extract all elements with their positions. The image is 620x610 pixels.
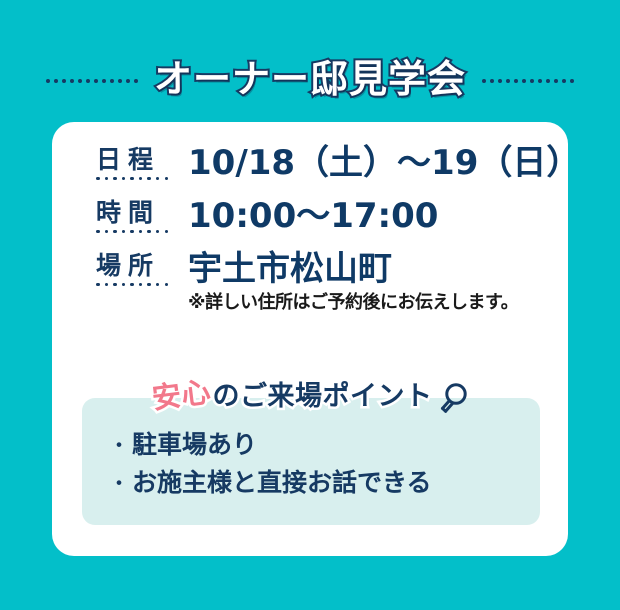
header-band: オーナー邸見学会 <box>0 46 620 112</box>
magnifier-icon <box>436 381 470 420</box>
event-details-list: 日程 10/18（土）〜19（日） 時間 10:00〜17:00 <box>96 144 566 330</box>
visit-points-heading-accent: 安心 <box>151 376 213 415</box>
dotted-rule-left <box>46 78 138 84</box>
detail-label-place-text: 場所 <box>96 252 188 280</box>
list-item-label: お施主様と直接お話できる <box>132 468 432 498</box>
label-underline-dots <box>96 177 168 181</box>
label-underline-dots <box>96 283 168 287</box>
visit-points-heading-rest: のご来場ポイント <box>213 381 433 412</box>
detail-value-date: 10/18（土）〜19（日） <box>188 144 580 183</box>
visit-points-list: ・ 駐車場あり ・ お施主様と直接お話できる <box>106 430 526 506</box>
detail-row-date: 日程 10/18（土）〜19（日） <box>96 144 566 183</box>
list-bullet-icon: ・ <box>106 473 132 495</box>
detail-value-date-text: 10/18（土）〜19（日） <box>188 144 580 183</box>
detail-value-place-text: 宇土市松山町 <box>188 250 566 289</box>
detail-value-place-note: ※詳しい住所はご予約後にお伝えします。 <box>188 291 566 315</box>
visit-points-heading-text: 安心のご来場ポイント <box>152 380 432 412</box>
detail-label-date: 日程 <box>96 144 188 181</box>
detail-label-time-text: 時間 <box>96 199 188 227</box>
label-underline-dots <box>96 230 168 234</box>
detail-label-time: 時間 <box>96 197 188 234</box>
visit-points-box: 安心のご来場ポイント ・ 駐車場あり ・ お施主様と直接お話できる <box>82 398 540 525</box>
list-item: ・ お施主様と直接お話できる <box>106 468 526 498</box>
dotted-rule-right <box>482 78 574 84</box>
list-item-label: 駐車場あり <box>132 430 257 460</box>
detail-label-date-text: 日程 <box>96 146 188 174</box>
detail-value-place: 宇土市松山町 ※詳しい住所はご予約後にお伝えします。 <box>188 250 566 315</box>
detail-row-place: 場所 宇土市松山町 ※詳しい住所はご予約後にお伝えします。 <box>96 250 566 315</box>
detail-row-time: 時間 10:00〜17:00 <box>96 197 566 236</box>
list-item: ・ 駐車場あり <box>106 430 526 460</box>
detail-value-time: 10:00〜17:00 <box>188 197 566 236</box>
list-bullet-icon: ・ <box>106 435 132 457</box>
detail-label-place: 場所 <box>96 250 188 287</box>
page-title: オーナー邸見学会 <box>154 60 466 98</box>
detail-value-time-text: 10:00〜17:00 <box>188 197 566 236</box>
info-card: 日程 10/18（土）〜19（日） 時間 10:00〜17:00 <box>52 122 568 556</box>
visit-points-heading: 安心のご来場ポイント <box>82 376 540 415</box>
